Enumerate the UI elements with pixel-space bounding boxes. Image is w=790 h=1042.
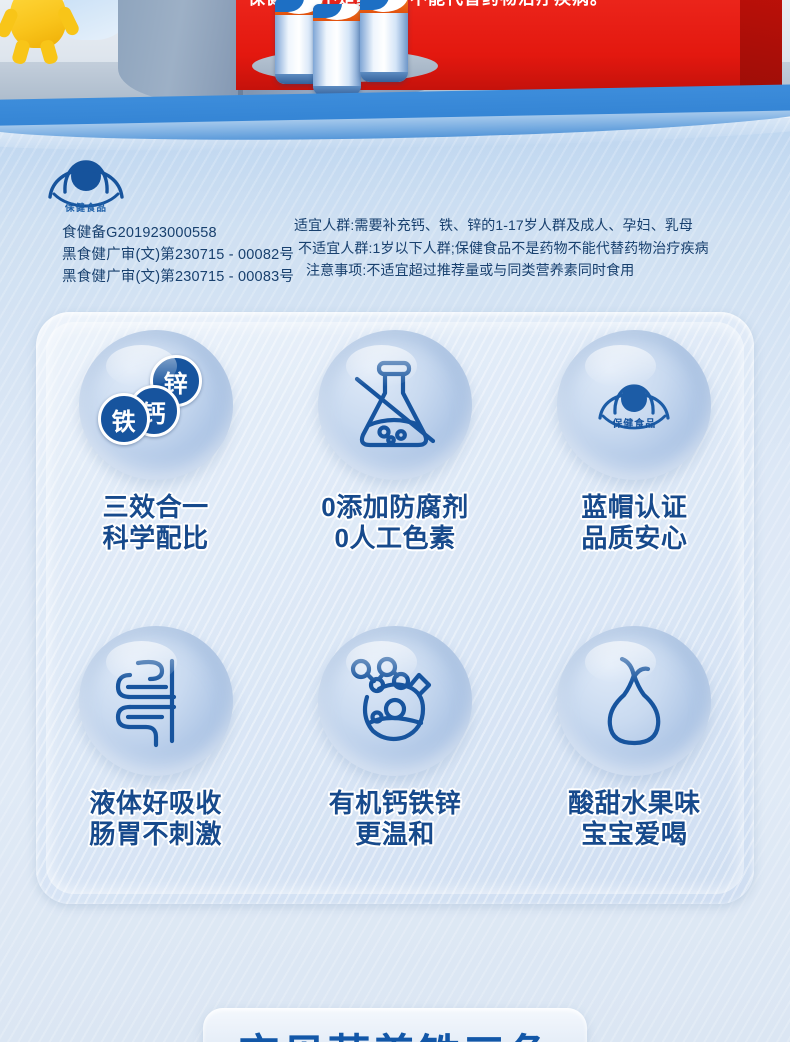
features-grid: 锌 钙 铁 三效合一 科学配比 <box>36 312 754 904</box>
feature-bubble <box>318 626 472 776</box>
feature-label-line1: 蓝帽认证 <box>581 492 687 522</box>
cert-number: 食健备G201923000558 <box>62 222 294 244</box>
mineral-pill-iron: 铁 <box>98 393 150 445</box>
unsuitable-population-text: 不适宜人群:1岁以下人群;保健食品不是药物不能代替药物治疗疾病 <box>298 237 780 260</box>
feature-label-line2: 科学配比 <box>103 523 209 554</box>
feature-label-line1: 0添加防腐剂 <box>321 492 468 522</box>
feature-bubble: 保健食品 <box>557 330 711 480</box>
feature-label-line2: 更温和 <box>329 819 462 850</box>
usage-info-column: 适宜人群:需要补充钙、铁、锌的1-17岁人群及成人、孕妇、乳母 不适宜人群:1岁… <box>294 214 780 282</box>
feature-label-line1: 酸甜水果味 <box>568 788 701 818</box>
suitable-population-text: 适宜人群:需要补充钙、铁、锌的1-17岁人群及成人、孕妇、乳母 <box>294 214 780 237</box>
minerals-pills-icon: 锌 钙 铁 <box>96 355 216 455</box>
feature-item-organic-minerals[interactable]: 有机钙铁锌 更温和 <box>275 608 514 904</box>
organic-molecule-flask-icon <box>339 645 451 757</box>
feature-item-fruit-flavor[interactable]: 酸甜水果味 宝宝爱喝 <box>515 608 754 904</box>
feature-label-line2: 肠胃不刺激 <box>89 819 222 850</box>
feature-label: 三效合一 科学配比 <box>103 492 209 554</box>
bottom-banner-title: 宝贝营养铁三角 <box>238 1021 553 1042</box>
blue-hat-certification-icon: 保健食品 <box>586 373 682 437</box>
feature-label-line1: 有机钙铁锌 <box>329 788 462 818</box>
feature-label: 蓝帽认证 品质安心 <box>581 492 687 554</box>
feature-label: 液体好吸收 肠胃不刺激 <box>89 788 222 850</box>
product-bottle <box>313 4 361 96</box>
intestine-icon <box>100 645 212 757</box>
feature-bubble: 锌 钙 铁 <box>79 330 233 480</box>
certification-info-block: 保健食品 食健备G201923000558 黑食健广审(文)第230715 - … <box>0 148 790 300</box>
feature-bubble <box>318 330 472 480</box>
top-photo-banner: 保健食品不是药物，不能代替药物治疗疾病。 <box>0 0 790 100</box>
feature-bubble <box>557 626 711 776</box>
feature-label-line2: 品质安心 <box>581 523 687 554</box>
feature-label: 0添加防腐剂 0人工色素 <box>321 492 468 554</box>
blue-hat-badge-caption: 保健食品 <box>586 415 682 430</box>
blue-hat-health-food-logo-icon: 保健食品 <box>40 150 132 208</box>
no-preservative-flask-icon <box>339 349 451 461</box>
feature-label: 有机钙铁锌 更温和 <box>329 788 462 850</box>
feature-label-line2: 宝宝爱喝 <box>568 819 701 850</box>
feature-item-three-in-one[interactable]: 锌 钙 铁 三效合一 科学配比 <box>36 312 275 608</box>
feature-label: 酸甜水果味 宝宝爱喝 <box>568 788 701 850</box>
cert-number: 黑食健广审(文)第230715 - 00083号 <box>62 266 294 288</box>
product-detail-page: 保健食品不是药物，不能代替药物治疗疾病。 保健食品 <box>0 0 790 1042</box>
product-bottle <box>360 0 408 82</box>
feature-item-no-additives[interactable]: 0添加防腐剂 0人工色素 <box>275 312 514 608</box>
feature-label-line2: 0人工色素 <box>321 523 468 554</box>
feature-item-easy-absorption[interactable]: 液体好吸收 肠胃不刺激 <box>36 608 275 904</box>
feature-label-line1: 三效合一 <box>103 492 209 522</box>
mascot-character-icon <box>2 0 76 74</box>
certification-number-list: 食健备G201923000558 黑食健广审(文)第230715 - 00082… <box>62 222 294 288</box>
bottom-title-banner: 宝贝营养铁三角 <box>203 1008 587 1042</box>
feature-label-line1: 液体好吸收 <box>89 788 222 818</box>
cert-number: 黑食健广审(文)第230715 - 00082号 <box>62 244 294 266</box>
features-card: 锌 钙 铁 三效合一 科学配比 <box>36 312 754 904</box>
feature-bubble <box>79 626 233 776</box>
pear-fruit-icon <box>578 645 690 757</box>
precautions-text: 注意事项:不适宜超过推荐量或与同类营养素同时食用 <box>306 259 780 282</box>
feature-item-blue-hat-cert[interactable]: 保健食品 蓝帽认证 品质安心 <box>515 312 754 608</box>
